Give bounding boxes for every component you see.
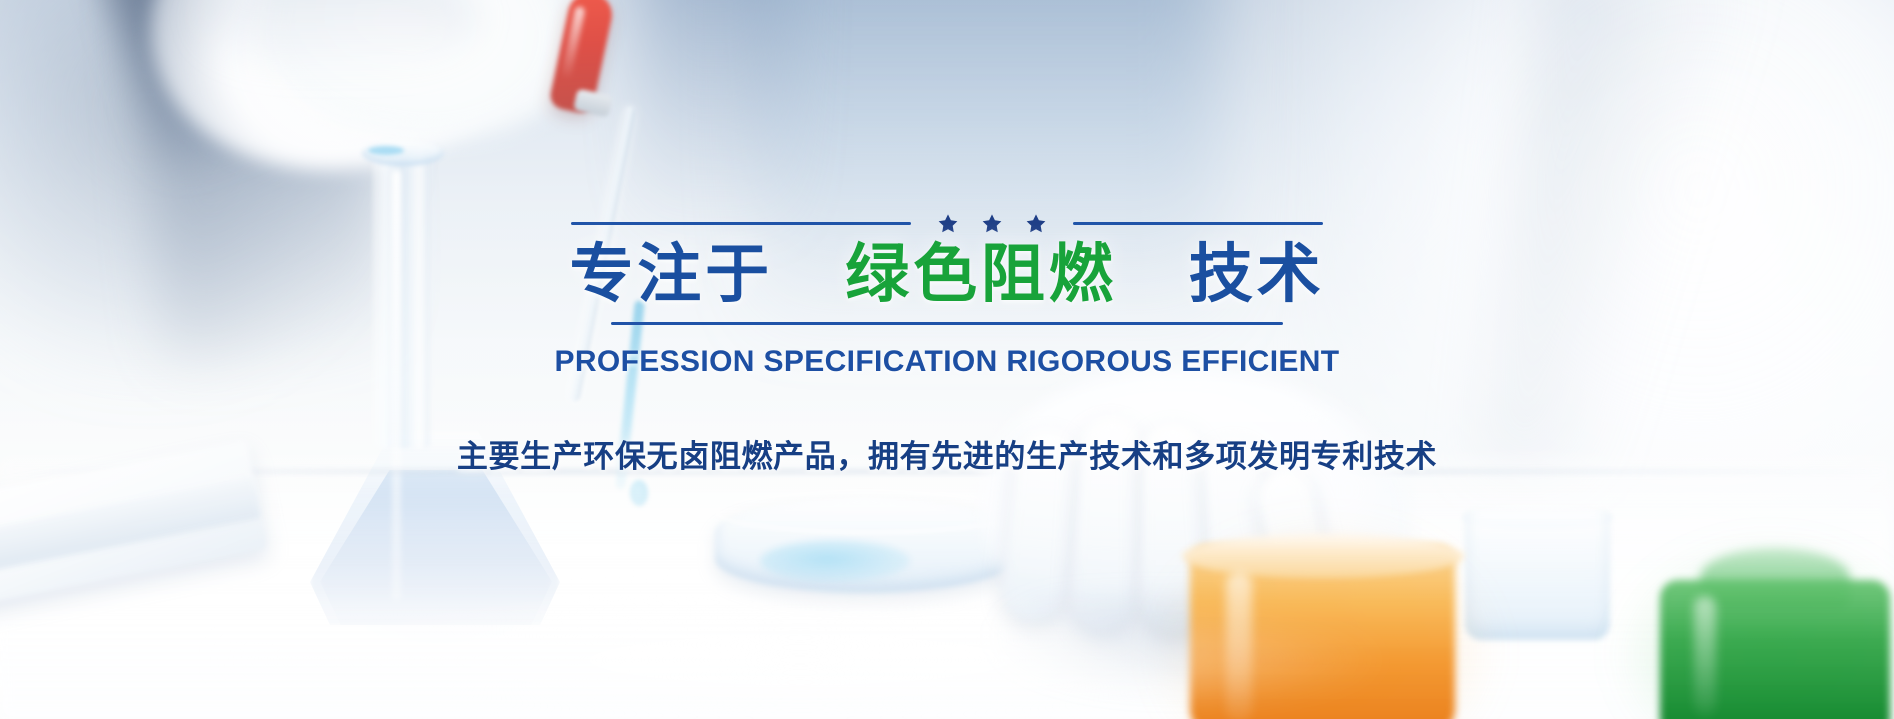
headline-part-1: 专注于 (569, 238, 773, 312)
decorative-divider (554, 212, 1340, 234)
star-group (911, 213, 1073, 234)
divider-rule-right (1073, 222, 1323, 225)
banner-subtitle-english: PROFESSION SPECIFICATION RIGOROUS EFFICI… (555, 345, 1340, 379)
headline-part-2: 绿色阻燃 (845, 238, 1116, 312)
divider-rule-left (571, 222, 911, 225)
headline-part-3: 技术 (1189, 238, 1325, 312)
star-icon (937, 213, 959, 234)
hero-banner: 专注于 绿色阻燃 技术 PROFESSION SPECIFICATION RIG… (0, 0, 1894, 719)
headline-underline (611, 322, 1283, 325)
banner-headline: 专注于 绿色阻燃 技术 (569, 240, 1324, 312)
banner-tagline-chinese: 主要生产环保无卤阻燃产品，拥有先进的生产技术和多项发明专利技术 (457, 431, 1437, 476)
star-icon (1025, 213, 1047, 234)
star-icon (981, 213, 1003, 234)
banner-content: 专注于 绿色阻燃 技术 PROFESSION SPECIFICATION RIG… (0, 0, 1894, 719)
